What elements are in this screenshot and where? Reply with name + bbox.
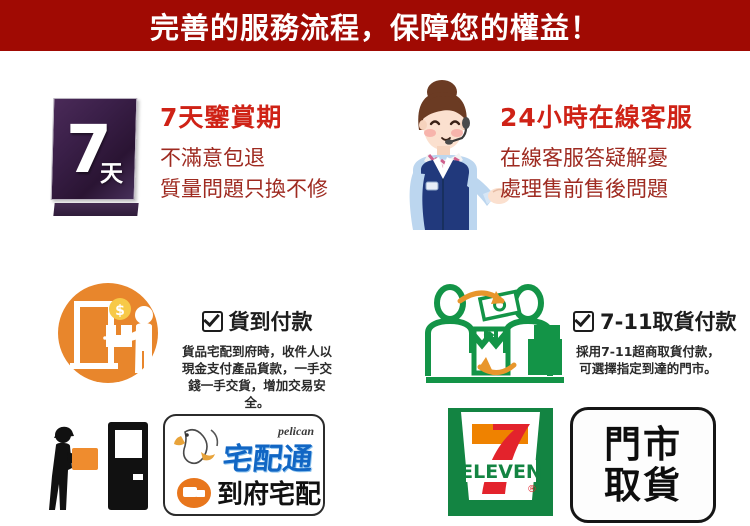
seven-day-text-block: 7天鑒賞期 不滿意包退 質量問題只換不修 [160,98,328,205]
pelican-service-label: 到府宅配 [217,474,321,511]
customer-service-line-2: 處理售前售後問題 [500,174,693,205]
header-banner: 完善的服務流程，保障您的權益！ [0,0,750,51]
seven-day-line-1: 不滿意包退 [160,143,328,174]
pelican-brand-cn: 宅配通 [221,434,316,478]
svg-text:$: $ [115,303,125,319]
svg-text:®: ® [527,484,537,495]
customer-service-heading: 24小時在線客服 [500,98,693,134]
customer-service-line-1: 在線客服答疑解憂 [500,143,693,174]
store-pickup-badge-line-2: 取貨 [604,465,682,506]
seven-day-line-2: 質量問題只換不修 [160,174,328,205]
seven-day-badge-icon: 7 天 [48,98,140,220]
checkbox-checked-icon [202,311,223,332]
store-pickup-heading-row: 7-11取貨付款 [573,306,737,336]
store-pickup-badge: 門市 取貨 [570,407,716,523]
courier-at-door-icon [30,418,150,514]
customer-service-text-block: 24小時在線客服 在線客服答疑解憂 處理售前售後問題 [500,98,693,205]
badge-unit: 天 [100,154,123,188]
store-pickup-body: 採用7-11超商取貨付款，可選擇指定到達的門市。 [573,343,723,377]
pelican-service-row: 到府宅配 [177,474,321,511]
store-pickup-badge-line-1: 門市 [604,424,682,465]
pelican-logo: pelican 宅配通 到府宅配 [163,414,325,516]
checkbox-checked-icon [573,311,594,332]
cash-on-delivery-text-block: 貨到付款 貨品宅配到府時，收件人以現金支付產品貨款，一手交錢一手交貨，增加交易安… [182,306,332,411]
delivery-truck-icon [177,478,211,508]
cash-on-delivery-heading-row: 貨到付款 [182,306,332,336]
store-pickup-text-block: 7-11取貨付款 採用7-11超商取貨付款，可選擇指定到達的門市。 [573,306,737,377]
store-pickup-heading: 7-11取貨付款 [600,306,737,336]
seven-eleven-logo: ELEVEN ® [448,408,553,516]
cash-on-delivery-heading: 貨到付款 [229,306,313,336]
page-title: 完善的服務流程，保障您的權益！ [150,5,600,47]
cash-on-delivery-body: 貨品宅配到府時，收件人以現金支付產品貨款，一手交錢一手交貨，增加交易安全。 [182,343,332,411]
promo-page: 完善的服務流程，保障您的權益！ 7 天 7天鑒賞期 不滿意包退 質量問題只換不修 [0,0,750,526]
seven-eleven-word: ELEVEN [460,461,542,483]
seven-day-heading: 7天鑒賞期 [160,98,328,134]
cash-on-delivery-icon: $ [56,281,168,385]
store-pickup-icon [424,281,566,387]
customer-service-agent-icon [395,78,510,230]
badge-shadow-bar [53,203,138,216]
